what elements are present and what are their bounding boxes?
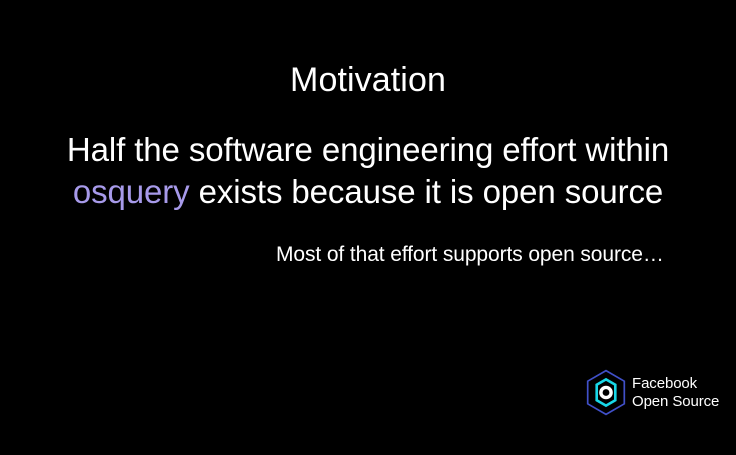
main-statement-line-2-rest: exists because it is open source [190, 173, 664, 210]
center-ring-icon [601, 387, 611, 397]
page-title: Motivation [0, 60, 736, 100]
main-statement: Half the software engineering effort wit… [0, 129, 736, 213]
logo-wordmark: Facebook Open Source [632, 375, 719, 411]
sub-note: Most of that effort supports open source… [276, 242, 664, 268]
outer-hexagon-icon [588, 371, 625, 415]
facebook-open-source-hexagon-icon [585, 369, 627, 416]
osquery-accent-term: osquery [73, 173, 190, 210]
main-statement-line-2: osquery exists because it is open source [0, 171, 736, 213]
logo-wordmark-line-2: Open Source [632, 393, 719, 411]
main-statement-line-1: Half the software engineering effort wit… [0, 129, 736, 171]
facebook-open-source-logo: Facebook Open Source [585, 369, 719, 416]
presentation-slide: Motivation Half the software engineering… [0, 0, 736, 455]
logo-wordmark-line-1: Facebook [632, 375, 719, 393]
